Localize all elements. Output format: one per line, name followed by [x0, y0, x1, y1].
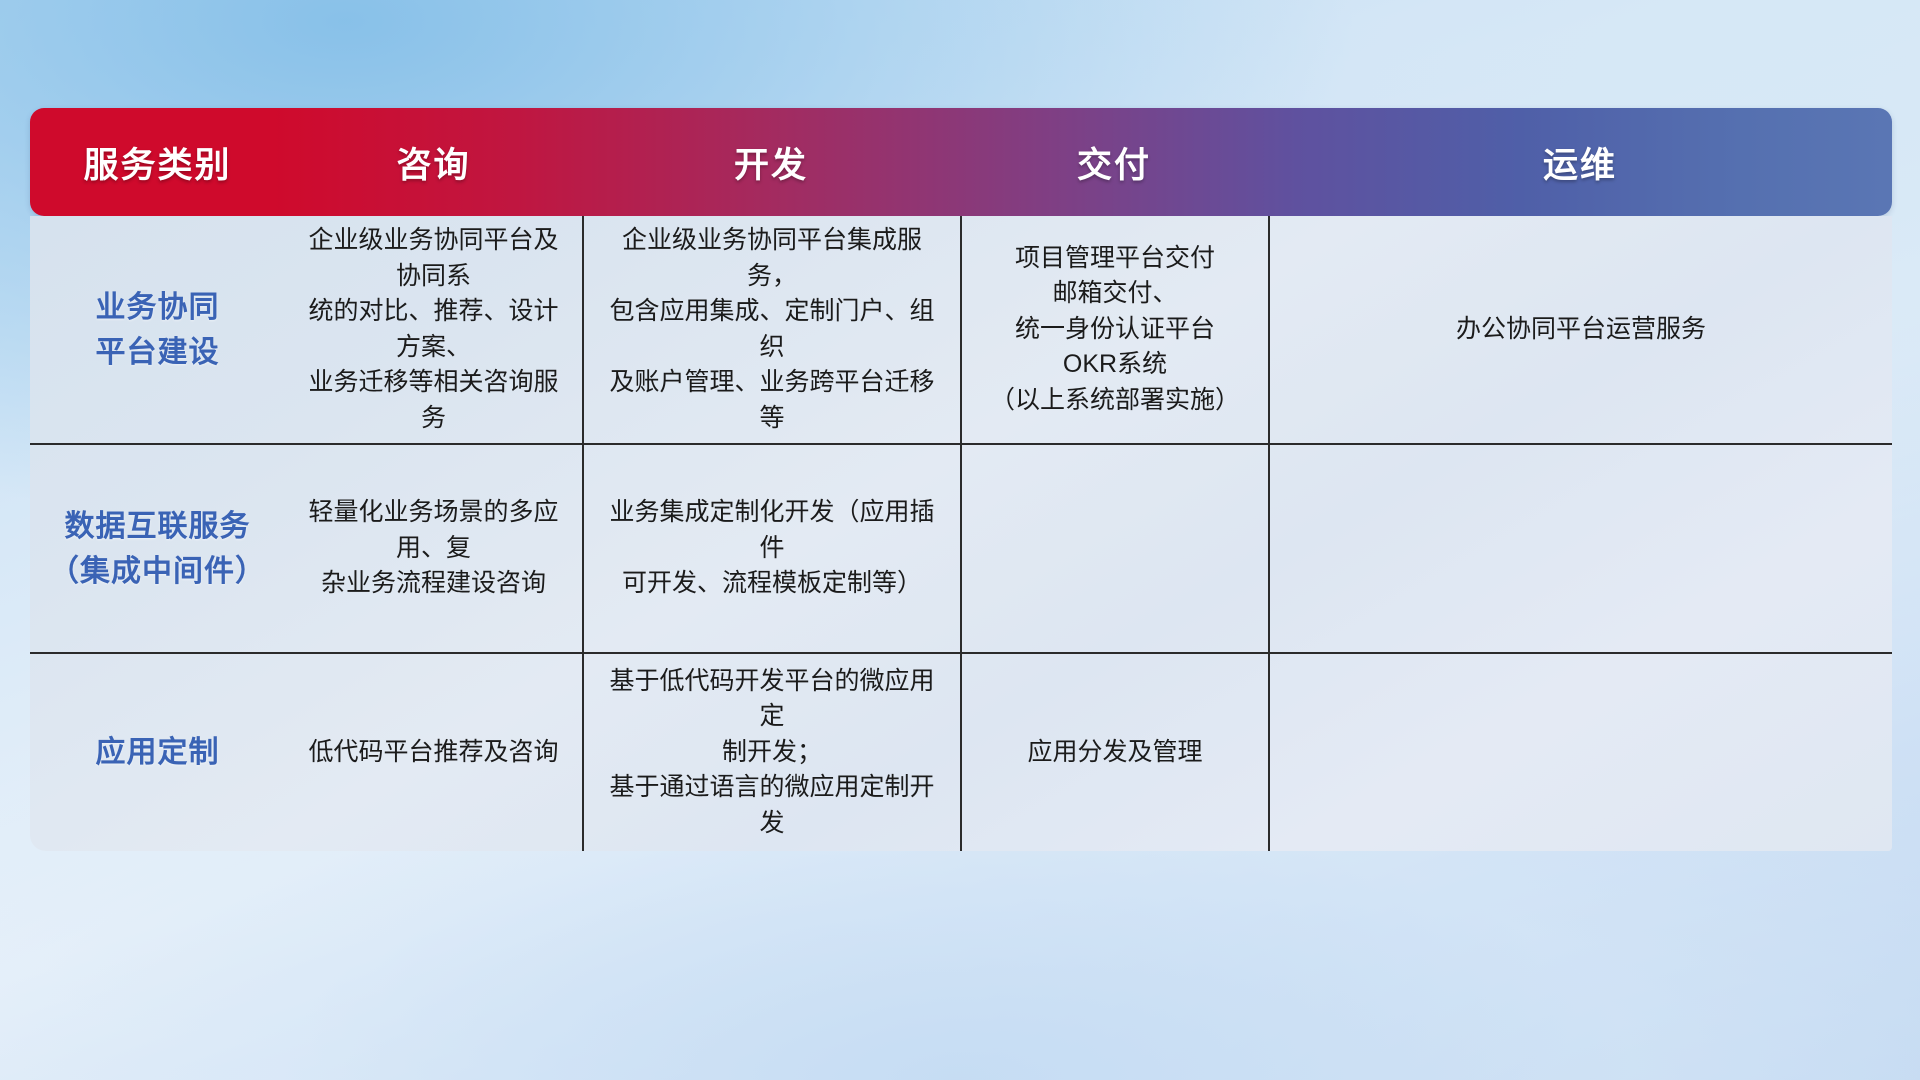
cell-delivery: 项目管理平台交付 邮箱交付、 统一身份认证平台 OKR系统 （以上系统部署实施）	[960, 216, 1268, 443]
column-header-delivery: 交付	[960, 108, 1268, 216]
slide-canvas: 服务类别 咨询 开发 交付 运维 业务协同 平台建设 企业级业务协同平台及协同系…	[0, 0, 1920, 1080]
cell-operations	[1268, 652, 1892, 851]
column-header-development: 开发	[582, 108, 960, 216]
cell-operations	[1268, 443, 1892, 652]
cell-delivery: 应用分发及管理	[960, 652, 1268, 851]
cell-consulting: 低代码平台推荐及咨询	[285, 652, 582, 851]
table-row: 业务协同 平台建设 企业级业务协同平台及协同系 统的对比、推荐、设计方案、 业务…	[30, 216, 1892, 443]
table-row: 应用定制 低代码平台推荐及咨询 基于低代码开发平台的微应用定 制开发； 基于通过…	[30, 652, 1892, 851]
table-row: 数据互联服务 （集成中间件） 轻量化业务场景的多应用、复 杂业务流程建设咨询 业…	[30, 443, 1892, 652]
cell-operations: 办公协同平台运营服务	[1268, 216, 1892, 443]
column-header-category: 服务类别	[30, 108, 285, 216]
table-header-row: 服务类别 咨询 开发 交付 运维	[30, 108, 1892, 216]
cell-category: 业务协同 平台建设	[30, 216, 285, 443]
cell-category: 数据互联服务 （集成中间件）	[30, 443, 285, 652]
service-matrix-table: 服务类别 咨询 开发 交付 运维 业务协同 平台建设 企业级业务协同平台及协同系…	[30, 108, 1892, 851]
cell-delivery	[960, 443, 1268, 652]
cell-development: 企业级业务协同平台集成服务， 包含应用集成、定制门户、组织 及账户管理、业务跨平…	[582, 216, 960, 443]
cell-development: 基于低代码开发平台的微应用定 制开发； 基于通过语言的微应用定制开发	[582, 652, 960, 851]
cell-consulting: 企业级业务协同平台及协同系 统的对比、推荐、设计方案、 业务迁移等相关咨询服务	[285, 216, 582, 443]
column-header-operations: 运维	[1268, 108, 1892, 216]
table-body: 业务协同 平台建设 企业级业务协同平台及协同系 统的对比、推荐、设计方案、 业务…	[30, 216, 1892, 851]
cell-consulting: 轻量化业务场景的多应用、复 杂业务流程建设咨询	[285, 443, 582, 652]
cell-development: 业务集成定制化开发（应用插件 可开发、流程模板定制等）	[582, 443, 960, 652]
column-header-consulting: 咨询	[285, 108, 582, 216]
cell-category: 应用定制	[30, 652, 285, 851]
